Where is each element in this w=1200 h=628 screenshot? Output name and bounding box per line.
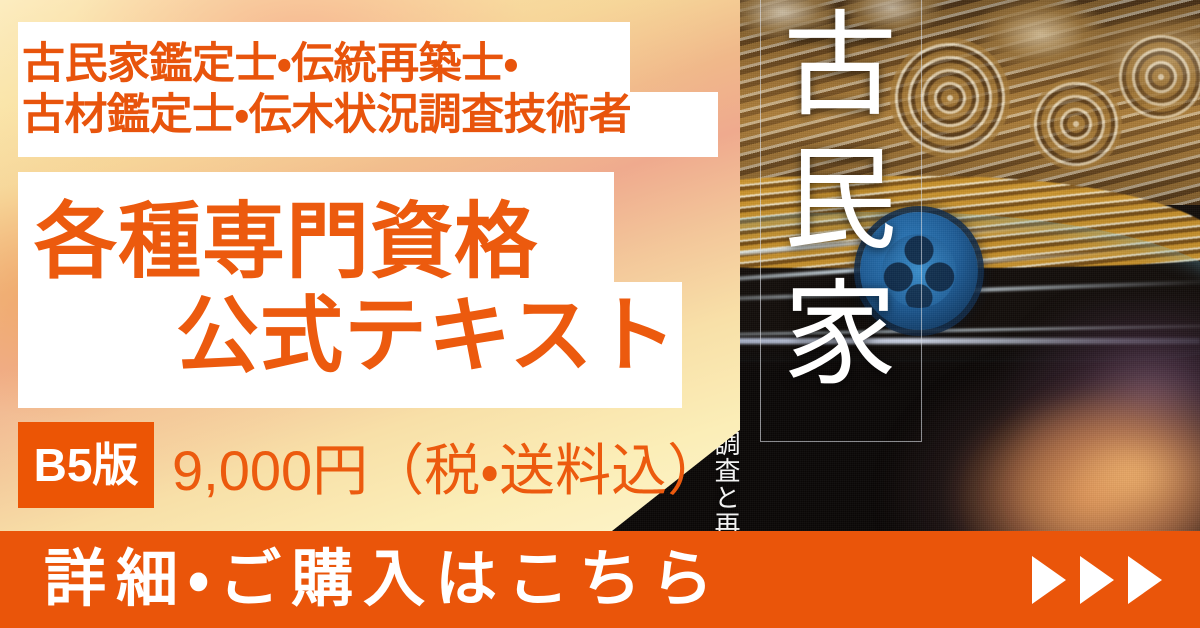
format-badge-label: B5版 [34,442,139,488]
book-title-char-3: 家 [783,277,897,393]
wood-swirl-ornament [1030,78,1122,170]
main-title-line-2: 公式テキスト [176,290,678,383]
photo-warm-glow [990,380,1200,531]
headline-line-2: 古材鑑定士・伝木状況調査技術者 [20,90,720,141]
main-title-text: 各種専門資格 公式テキスト [18,172,682,408]
triangle-right-icon [1080,556,1114,604]
wood-swirl-ornament [1118,34,1200,120]
main-title-line-1: 各種専門資格 [34,196,538,289]
book-title-char-2: 民 [783,142,897,258]
book-title-char-1: 古 [783,8,897,124]
price-text: 9,000円（税・送料込） [172,424,723,508]
cta-arrow-group[interactable] [1032,556,1162,604]
triangle-right-icon [1128,556,1162,604]
cta-bar[interactable]: 詳細・ご購入はこちら [0,531,1200,628]
format-badge: B5版 [18,422,154,508]
cta-label[interactable]: 詳細・ご購入はこちら [44,549,723,611]
book-title-vertical: 古 民 家 [760,8,920,438]
headline-line-1: 古民家鑑定士・伝統再築士・ [20,39,720,90]
promo-banner[interactable]: 古 民 家 伝統構法 古民家活用のための調査と再生の 古民家鑑定士・伝統再築士・… [0,0,1200,628]
triangle-right-icon [1032,556,1066,604]
headline-text: 古民家鑑定士・伝統再築士・ 古材鑑定士・伝木状況調査技術者 [20,26,720,154]
